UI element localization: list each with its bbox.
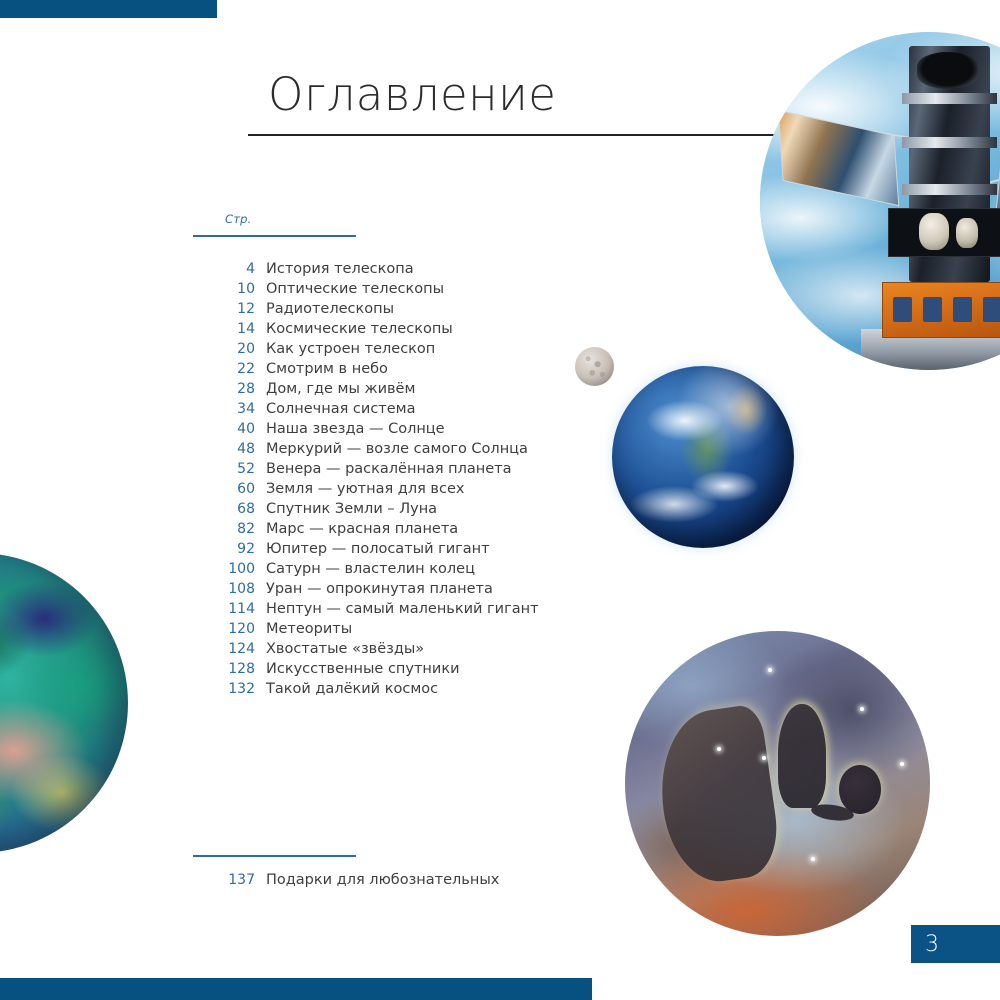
- toc-entry[interactable]: 137Подарки для любознательных: [193, 870, 613, 890]
- nebula-star-5: [811, 857, 815, 861]
- toc-bottom-rule: [193, 855, 356, 857]
- toc-entry[interactable]: 92Юпитер — полосатый гигант: [193, 539, 573, 559]
- hubble-space-telescope-image: [760, 32, 1000, 370]
- toc-entry[interactable]: 34Солнечная система: [193, 399, 573, 419]
- bottom-accent-bar: [0, 978, 592, 1000]
- toc-entry-page: 28: [193, 379, 255, 399]
- toc-entry-title: Меркурий — возле самого Солнца: [255, 439, 528, 459]
- toc-entry-title: История телескопа: [255, 259, 414, 279]
- venus-radar-map-image: [0, 553, 128, 853]
- toc-entry-page: 14: [193, 319, 255, 339]
- toc-entry-title: Нептун — самый маленький гигант: [255, 599, 539, 619]
- toc-entry-page: 20: [193, 339, 255, 359]
- page-title: Оглавление: [268, 72, 556, 117]
- toc-entry[interactable]: 68Спутник Земли – Луна: [193, 499, 573, 519]
- toc-entry-page: 4: [193, 259, 255, 279]
- body-ring-1: [902, 93, 997, 104]
- toc-entry[interactable]: 48Меркурий — возле самого Солнца: [193, 439, 573, 459]
- toc-entry-page: 10: [193, 279, 255, 299]
- astronaut-2: [956, 218, 978, 248]
- toc-entry[interactable]: 132Такой далёкий космос: [193, 679, 573, 699]
- toc-entry-title: Марс — красная планета: [255, 519, 458, 539]
- toc-entry-title: Космические телескопы: [255, 319, 453, 339]
- toc-entry-title: Оптические телескопы: [255, 279, 444, 299]
- toc-entry-title: Как устроен телескоп: [255, 339, 435, 359]
- orange-cargo-module: [882, 282, 1000, 338]
- toc-entry-title: Солнечная система: [255, 399, 416, 419]
- toc-entry[interactable]: 114Нептун — самый маленький гигант: [193, 599, 573, 619]
- toc-entry-page: 48: [193, 439, 255, 459]
- toc-entry[interactable]: 60Земля — уютная для всех: [193, 479, 573, 499]
- toc-entry-page: 22: [193, 359, 255, 379]
- nebula-dust-finger: [778, 704, 827, 808]
- top-accent-bar: [0, 0, 217, 18]
- moon-image: [575, 347, 614, 386]
- toc-entry[interactable]: 100Сатурн — властелин колец: [193, 559, 573, 579]
- toc-entry[interactable]: 52Венера — раскалённая планета: [193, 459, 573, 479]
- toc-entry[interactable]: 22Смотрим в небо: [193, 359, 573, 379]
- toc-entry-title: Венера — раскалённая планета: [255, 459, 512, 479]
- toc-appendix-list: 137Подарки для любознательных: [193, 870, 613, 890]
- toc-entry-title: Дом, где мы живём: [255, 379, 415, 399]
- toc-entry-page: 120: [193, 619, 255, 639]
- body-ring-3: [902, 184, 997, 195]
- toc-entry[interactable]: 10Оптические телескопы: [193, 279, 573, 299]
- toc-entry[interactable]: 120Метеориты: [193, 619, 573, 639]
- toc-entry-title: Смотрим в небо: [255, 359, 388, 379]
- telescope-aperture: [917, 52, 978, 89]
- nebula-star-3: [860, 707, 864, 711]
- nebula-dark-globule: [839, 765, 882, 814]
- toc-entry[interactable]: 40Наша звезда — Солнце: [193, 419, 573, 439]
- toc-entry-page: 100: [193, 559, 255, 579]
- toc-entry-title: Хвостатые «звёзды»: [255, 639, 424, 659]
- toc-entry-page: 124: [193, 639, 255, 659]
- toc-entry[interactable]: 28Дом, где мы живём: [193, 379, 573, 399]
- toc-entry-page: 132: [193, 679, 255, 699]
- toc-entry-page: 68: [193, 499, 255, 519]
- nebula-star-4: [900, 762, 904, 766]
- toc-list: 4История телескопа10Оптические телескопы…: [193, 259, 573, 699]
- toc-entry-title: Такой далёкий космос: [255, 679, 438, 699]
- toc-entry-title: Наша звезда — Солнце: [255, 419, 445, 439]
- toc-entry-title: Земля — уютная для всех: [255, 479, 464, 499]
- toc-entry-title: Юпитер — полосатый гигант: [255, 539, 490, 559]
- toc-entry-page: 82: [193, 519, 255, 539]
- toc-entry-title: Метеориты: [255, 619, 352, 639]
- toc-entry[interactable]: 108Уран — опрокинутая планета: [193, 579, 573, 599]
- astronaut-1: [919, 213, 949, 250]
- toc-entry-title: Подарки для любознательных: [255, 870, 499, 890]
- toc-entry[interactable]: 124Хвостатые «звёзды»: [193, 639, 573, 659]
- toc-entry-page: 60: [193, 479, 255, 499]
- toc-entry-page: 114: [193, 599, 255, 619]
- toc-entry-page: 12: [193, 299, 255, 319]
- nebula-star-1: [717, 747, 721, 751]
- toc-entry-page: 92: [193, 539, 255, 559]
- toc-entry-page: 137: [193, 870, 255, 890]
- page-number-badge: 3: [911, 925, 1000, 963]
- toc-entry-page: 108: [193, 579, 255, 599]
- toc-entry[interactable]: 128Искусственные спутники: [193, 659, 573, 679]
- page-number-value: 3: [925, 932, 939, 957]
- earth-planet-image: [612, 366, 794, 548]
- body-ring-2: [902, 137, 997, 148]
- toc-entry[interactable]: 82Марс — красная планета: [193, 519, 573, 539]
- toc-top-rule: [193, 235, 356, 237]
- toc-entry-title: Сатурн — властелин колец: [255, 559, 475, 579]
- toc-entry[interactable]: 20Как устроен телескоп: [193, 339, 573, 359]
- toc-entry-title: Уран — опрокинутая планета: [255, 579, 493, 599]
- nebula-dust-pillar: [650, 703, 782, 887]
- toc-entry[interactable]: 12Радиотелескопы: [193, 299, 573, 319]
- toc-entry-title: Искусственные спутники: [255, 659, 460, 679]
- toc-entry-page: 40: [193, 419, 255, 439]
- toc-entry-page: 52: [193, 459, 255, 479]
- nebula-image: [625, 631, 930, 936]
- toc-entry-title: Спутник Земли – Луна: [255, 499, 437, 519]
- toc-column-header: Стр.: [225, 212, 251, 226]
- toc-entry[interactable]: 4История телескопа: [193, 259, 573, 279]
- nebula-star-2: [768, 668, 772, 672]
- toc-entry[interactable]: 14Космические телескопы: [193, 319, 573, 339]
- book-page: Оглавление Стр. 4История телескопа10Опти…: [0, 0, 1000, 1000]
- toc-entry-title: Радиотелескопы: [255, 299, 394, 319]
- toc-entry-page: 128: [193, 659, 255, 679]
- title-underline-rule: [248, 134, 786, 136]
- toc-entry-page: 34: [193, 399, 255, 419]
